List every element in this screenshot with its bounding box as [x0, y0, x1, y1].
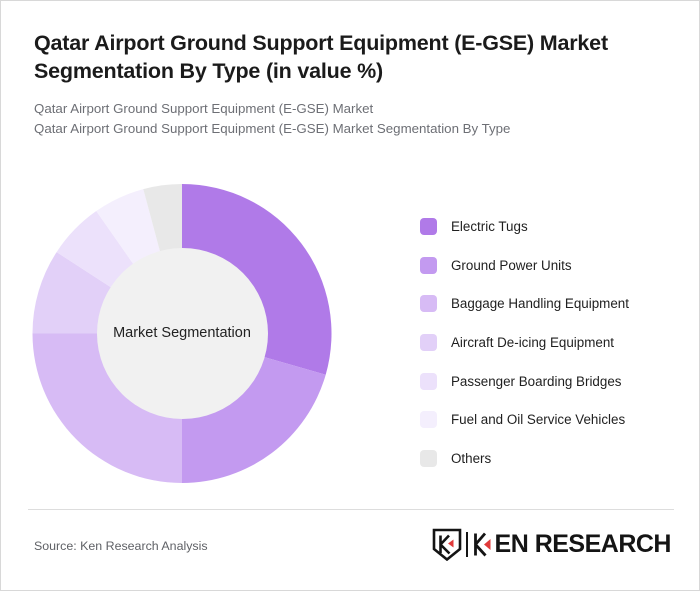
legend-label: Others [451, 451, 491, 466]
legend-item[interactable]: Ground Power Units [420, 246, 682, 285]
chart-page: Qatar Airport Ground Support Equipment (… [0, 0, 700, 591]
legend-label: Electric Tugs [451, 219, 528, 234]
legend-swatch [420, 334, 437, 351]
source-note: Source: Ken Research Analysis [34, 539, 208, 553]
chart-legend: Electric TugsGround Power UnitsBaggage H… [420, 207, 682, 478]
legend-swatch [420, 450, 437, 467]
chart-area: Market Segmentation Electric TugsGround … [1, 171, 700, 501]
legend-label: Baggage Handling Equipment [451, 296, 629, 311]
chart-header: Qatar Airport Ground Support Equipment (… [34, 29, 674, 139]
donut-hole: Market Segmentation [97, 248, 268, 419]
page-title: Qatar Airport Ground Support Equipment (… [34, 29, 674, 86]
subtitle-line-2: Qatar Airport Ground Support Equipment (… [34, 119, 674, 139]
legend-item[interactable]: Fuel and Oil Service Vehicles [420, 400, 682, 439]
legend-swatch [420, 295, 437, 312]
brand-k-icon [473, 532, 495, 557]
legend-swatch [420, 411, 437, 428]
legend-label: Ground Power Units [451, 258, 572, 273]
donut-center-label: Market Segmentation [113, 325, 251, 342]
legend-item[interactable]: Passenger Boarding Bridges [420, 362, 682, 401]
legend-swatch [420, 373, 437, 390]
legend-item[interactable]: Electric Tugs [420, 207, 682, 246]
legend-item[interactable]: Others [420, 439, 682, 478]
legend-swatch [420, 218, 437, 235]
donut-chart: Market Segmentation [32, 183, 332, 484]
legend-label: Aircraft De-icing Equipment [451, 335, 614, 350]
legend-swatch [420, 257, 437, 274]
brand-logo: EN RESEARCH [432, 527, 671, 561]
footer-divider [28, 509, 674, 510]
subtitle-line-1: Qatar Airport Ground Support Equipment (… [34, 99, 674, 119]
legend-label: Fuel and Oil Service Vehicles [451, 412, 625, 427]
ken-research-shield-icon [432, 528, 462, 561]
legend-label: Passenger Boarding Bridges [451, 374, 621, 389]
brand-wordmark: EN RESEARCH [473, 532, 671, 557]
brand-name: EN RESEARCH [495, 532, 671, 557]
brand-divider [466, 532, 468, 557]
legend-item[interactable]: Aircraft De-icing Equipment [420, 323, 682, 362]
legend-item[interactable]: Baggage Handling Equipment [420, 284, 682, 323]
subtitle-block: Qatar Airport Ground Support Equipment (… [34, 99, 674, 139]
